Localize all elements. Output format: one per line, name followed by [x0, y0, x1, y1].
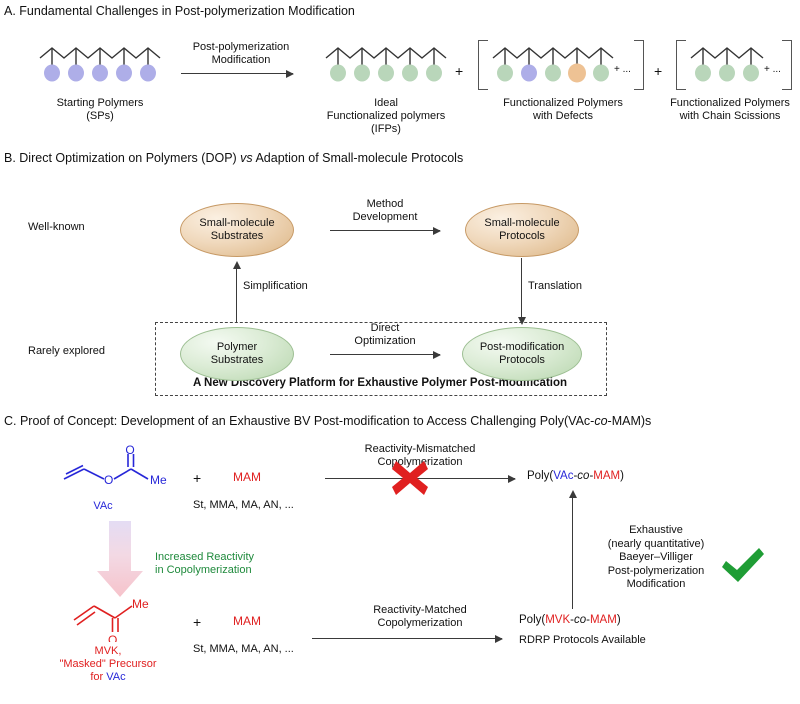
svg-text:O: O — [108, 633, 117, 642]
panel-a-reaction-arrow — [181, 73, 293, 74]
node-label-line: Substrates — [199, 230, 274, 243]
panel-b-title-part1: B. Direct Optimization on Polymers (DOP) — [4, 151, 240, 165]
panel-a-arrow-label: Post-polymerization Modification — [176, 41, 306, 67]
panel-a-plus-1: + — [455, 63, 463, 79]
panel-c-bottom-product-sub: RDRP Protocols Available — [519, 634, 646, 646]
node-label-line: Small-molecule — [484, 217, 559, 230]
arrow-translation — [521, 258, 522, 318]
svg-text:Me: Me — [132, 597, 149, 611]
arrow-label-line: Copolymerization — [340, 617, 500, 630]
polymer-chain-starting — [36, 40, 164, 88]
arrow-label-line: Reactivity-Matched — [340, 604, 500, 617]
caption-line: Starting Polymers — [20, 97, 180, 110]
svg-text:Me: Me — [150, 473, 167, 487]
node-label-line: Protocols — [480, 354, 564, 367]
product-monomer-b: MAM — [590, 614, 617, 626]
panel-a-title: A. Fundamental Challenges in Post-polyme… — [4, 4, 355, 18]
polymer-chain-scission — [687, 40, 767, 88]
product-monomer-a: VAc — [553, 470, 573, 482]
bv-label-line: Exhaustive — [586, 524, 726, 538]
arrow-label-translation: Translation — [528, 280, 638, 293]
increased-reactivity-line: Increased Reactivity — [155, 551, 254, 564]
node-label-line: Post-modification — [480, 341, 564, 354]
caption-line: Ideal — [306, 97, 466, 110]
panel-a-ellipsis-1: + ... — [614, 64, 631, 75]
polymer-chain-ideal-caption: Ideal Functionalized polymers (IFPs) — [306, 97, 466, 136]
polymer-chain-scission-caption: Functionalized Polymers with Chain Sciss… — [660, 97, 800, 123]
arrow-label-line: Method — [325, 198, 445, 211]
product-monomer-a: MVK — [545, 614, 570, 626]
panel-b-row-label-top: Well-known — [28, 221, 138, 234]
panel-b-row-label-bottom: Rarely explored — [28, 345, 138, 358]
panel-c-bottom-arrow-label: Reactivity-Matched Copolymerization — [340, 604, 500, 630]
panel-c-title-pre: C. Proof of Concept: Development of an E… — [4, 414, 594, 428]
panel-c-top-plus: + — [193, 470, 201, 486]
bv-label-line: (nearly quantitative) — [586, 538, 726, 552]
caption-line: (SPs) — [20, 110, 180, 123]
structure-mvk-label: MVK, "Masked" Precursor for VAc — [38, 645, 178, 684]
node-small-molecule-protocols[interactable]: Small-molecule Protocols — [465, 203, 579, 257]
panel-a-plus-2: + — [654, 63, 662, 79]
structure-mvk-label-line3: for VAc — [38, 671, 178, 684]
panel-b-title-italic: vs — [240, 151, 253, 165]
panel-a-ellipsis-2: + ... — [764, 64, 781, 75]
arrow-label-simplification: Simplification — [243, 280, 353, 293]
panel-c-bottom-plus: + — [193, 614, 201, 630]
arrow-label-line: Optimization — [325, 335, 445, 348]
product-co: -co- — [570, 614, 590, 626]
caption-line: Functionalized polymers — [306, 110, 466, 123]
arrow-label-line: Modification — [176, 54, 306, 67]
product-monomer-b: MAM — [593, 470, 620, 482]
polymer-chain-ideal — [322, 40, 450, 88]
arrow-label-direct-optimization: Direct Optimization — [325, 322, 445, 348]
structure-vac-label: VAc — [78, 500, 128, 512]
increased-reactivity-line: in Copolymerization — [155, 564, 254, 577]
structure-vac: O O Me — [58, 445, 178, 497]
bracket-right-defects — [634, 40, 644, 90]
node-small-molecule-substrates[interactable]: Small-molecule Substrates — [180, 203, 294, 257]
panel-c-bottom-comonomer: MAM — [233, 614, 261, 628]
product-post: ) — [620, 470, 624, 482]
panel-c-title-post: -MAM)s — [608, 414, 652, 428]
node-label-line: Protocols — [484, 230, 559, 243]
panel-c-top-comonomer: MAM — [233, 470, 261, 484]
panel-b-title-part2: Adaption of Small-molecule Protocols — [253, 151, 464, 165]
node-label-line: Small-molecule — [199, 217, 274, 230]
polymer-chain-defects — [489, 40, 617, 88]
bracket-right-scission — [782, 40, 792, 90]
node-label-line: Substrates — [211, 354, 264, 367]
panel-c-top-comonomer-examples: St, MMA, MA, AN, ... — [193, 499, 294, 511]
node-post-modification-protocols[interactable]: Post-modification Protocols — [462, 327, 582, 381]
cross-icon — [390, 459, 430, 502]
node-polymer-substrates[interactable]: Polymer Substrates — [180, 327, 294, 381]
bv-label-line: Baeyer–Villiger — [586, 551, 726, 565]
caption-line: with Chain Scissions — [660, 110, 800, 123]
panel-c-title-italic: co — [594, 414, 607, 428]
bv-modification-arrow — [572, 497, 573, 609]
polymer-chain-starting-caption: Starting Polymers (SPs) — [20, 97, 180, 123]
bv-modification-label: Exhaustive (nearly quantitative) Baeyer–… — [586, 524, 726, 592]
caption-line: Functionalized Polymers — [660, 97, 800, 110]
product-pre: Poly( — [519, 614, 545, 626]
structure-mvk-label-line: "Masked" Precursor — [38, 658, 178, 671]
panel-c-bottom-comonomer-examples: St, MMA, MA, AN, ... — [193, 643, 294, 655]
bv-label-line: Post-polymerization — [586, 565, 726, 579]
arrow-label-line: Reactivity-Mismatched — [340, 443, 500, 456]
arrow-label-line: Direct — [325, 322, 445, 335]
panel-c-top-product: Poly(VAc-co-MAM) — [527, 470, 624, 482]
check-icon — [720, 546, 766, 591]
arrow-method-development — [330, 230, 440, 231]
arrow-label-line: Development — [325, 211, 445, 224]
caption-line: with Defects — [478, 110, 648, 123]
bv-label-line: Modification — [586, 578, 726, 592]
caption-line: Functionalized Polymers — [478, 97, 648, 110]
arrow-direct-optimization — [330, 354, 440, 355]
node-label-line: Polymer — [211, 341, 264, 354]
polymer-chain-defects-caption: Functionalized Polymers with Defects — [478, 97, 648, 123]
caption-line: (IFPs) — [306, 123, 466, 136]
increased-reactivity-label: Increased Reactivity in Copolymerization — [155, 551, 254, 577]
product-pre: Poly( — [527, 470, 553, 482]
structure-mvk-label-blue: VAc — [106, 671, 125, 683]
product-co: -co- — [573, 470, 593, 482]
panel-c-bottom-arrow — [312, 638, 502, 639]
product-post: ) — [617, 614, 621, 626]
arrow-label-method-development: Method Development — [325, 198, 445, 224]
svg-text:O: O — [104, 473, 113, 487]
arrow-label-line: Post-polymerization — [176, 41, 306, 54]
structure-mvk: O Me — [68, 592, 178, 642]
arrow-simplification — [236, 268, 237, 323]
panel-c-bottom-product: Poly(MVK-co-MAM) — [519, 614, 621, 626]
bracket-left-defects — [478, 40, 488, 90]
structure-mvk-label-pre: for — [90, 671, 106, 683]
panel-c-title: C. Proof of Concept: Development of an E… — [4, 414, 651, 428]
structure-mvk-label-line: MVK, — [38, 645, 178, 658]
panel-b-title: B. Direct Optimization on Polymers (DOP)… — [4, 151, 463, 165]
svg-text:O: O — [125, 445, 134, 457]
bracket-left-scission — [676, 40, 686, 90]
